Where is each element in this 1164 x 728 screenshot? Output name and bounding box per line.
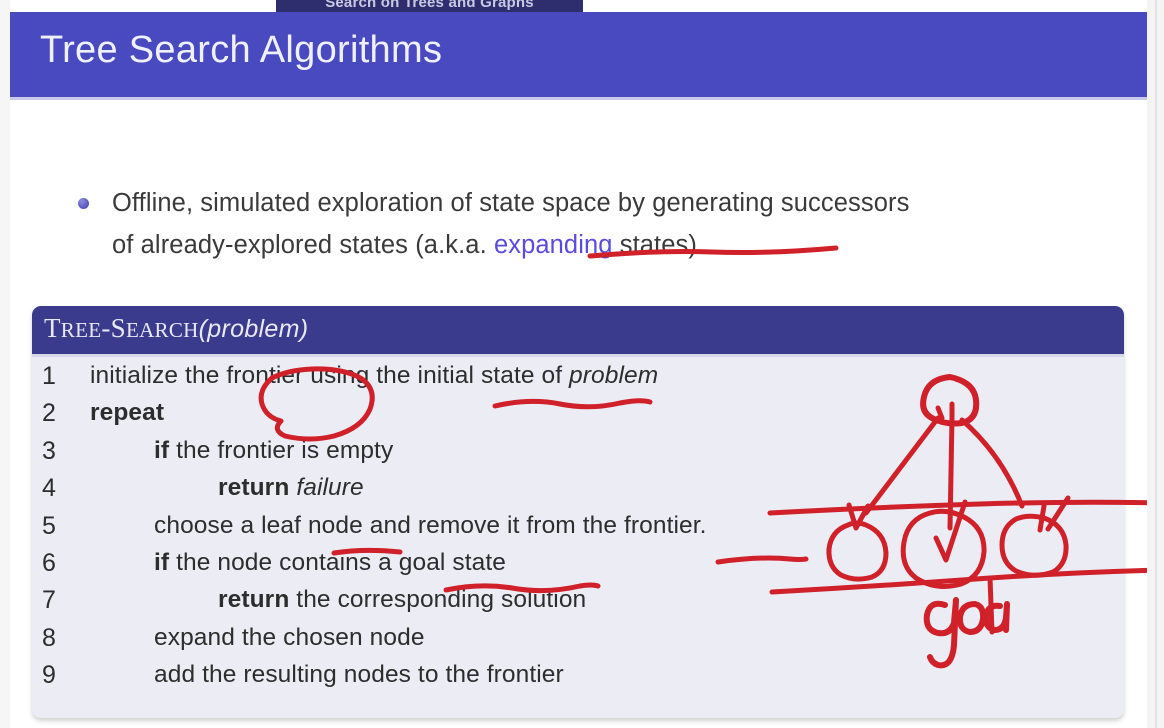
line-keyword: repeat [90,399,164,426]
algo-argument: problem [207,315,299,343]
line-emph: problem [569,362,658,389]
bullet-line-2-prefix: of already-explored states (a.k.a. [112,231,494,259]
right-seam-divider [1155,0,1157,728]
line-text: the corresponding solution [289,586,586,613]
code-line: 7 return the corresponding solution [32,586,1124,623]
line-keyword: if [154,549,169,576]
line-emph: failure [296,474,363,501]
line-number: 1 [42,362,66,391]
line-keyword: if [154,437,169,464]
line-code: if the node contains a goal state [154,549,506,577]
line-text: choose a leaf node and remove it from th… [154,512,707,539]
line-code: if the frontier is empty [154,437,393,465]
keyword-expanding: expanding [494,231,613,259]
line-number: 9 [42,661,66,690]
line-code: add the resulting nodes to the frontier [154,661,564,689]
line-code: initialize the frontier using the initia… [90,362,658,390]
page-title: Tree Search Algorithms [40,29,442,72]
code-line: 8 expand the chosen node [32,624,1124,661]
line-number: 3 [42,437,66,466]
line-keyword: return [218,586,289,613]
algorithm-card: TREE-SEARCH(problem) 1 initialize the fr… [32,306,1124,718]
screen: Search on Trees and Graphs Tree Search A… [0,0,1164,728]
previous-slide-title: Search on Trees and Graphs [276,0,583,11]
bullet-line-2-suffix: states) [613,231,697,259]
previous-slide-header-strip: Search on Trees and Graphs [276,0,583,12]
line-text: the frontier is empty [169,437,393,464]
bullet-dot-icon [78,198,89,209]
line-number: 7 [42,586,66,615]
code-line: 9 add the resulting nodes to the frontie… [32,661,1124,698]
line-code: return the corresponding solution [218,586,586,614]
algo-name-T: T [44,313,61,343]
line-number: 5 [42,512,66,541]
line-code: choose a leaf node and remove it from th… [154,512,707,540]
bullet-line-1: Offline, simulated exploration of state … [112,189,909,217]
code-line: 1 initialize the frontier using the init… [32,362,1124,399]
code-line: 4 return failure [32,474,1124,511]
line-number: 2 [42,399,66,428]
line-text: initialize the frontier using the initia… [90,362,569,389]
algorithm-card-header: TREE-SEARCH(problem) [32,306,1124,354]
left-gutter [0,0,10,728]
code-line: 2 repeat [32,399,1124,436]
algo-open-paren: ( [199,315,208,343]
line-number: 8 [42,624,66,653]
code-line: 5 choose a leaf node and remove it from … [32,512,1124,549]
algo-close-paren: ) [300,315,309,343]
line-text: add the resulting nodes to the frontier [154,661,564,688]
algo-name-dash-S: -S [101,313,126,343]
algo-name-EARCH: EARCH [126,318,199,342]
title-band-underline [10,97,1147,100]
line-code: return failure [218,474,364,502]
algo-name-REE: REE [61,318,102,342]
line-number: 4 [42,474,66,503]
line-keyword: return [218,474,289,501]
line-number: 6 [42,549,66,578]
line-code: repeat [90,399,164,427]
algorithm-name: TREE-SEARCH(problem) [44,313,308,344]
algorithm-header-rule [32,354,1124,357]
line-text: the node contains a goal state [169,549,506,576]
slide-title-band: Tree Search Algorithms [10,12,1147,97]
algorithm-lines: 1 initialize the frontier using the init… [32,362,1124,699]
line-text: expand the chosen node [154,624,425,651]
line-code: expand the chosen node [154,624,425,652]
code-line: 6 if the node contains a goal state [32,549,1124,586]
code-line: 3 if the frontier is empty [32,437,1124,474]
bullet-item-text: Offline, simulated exploration of state … [112,182,1112,266]
